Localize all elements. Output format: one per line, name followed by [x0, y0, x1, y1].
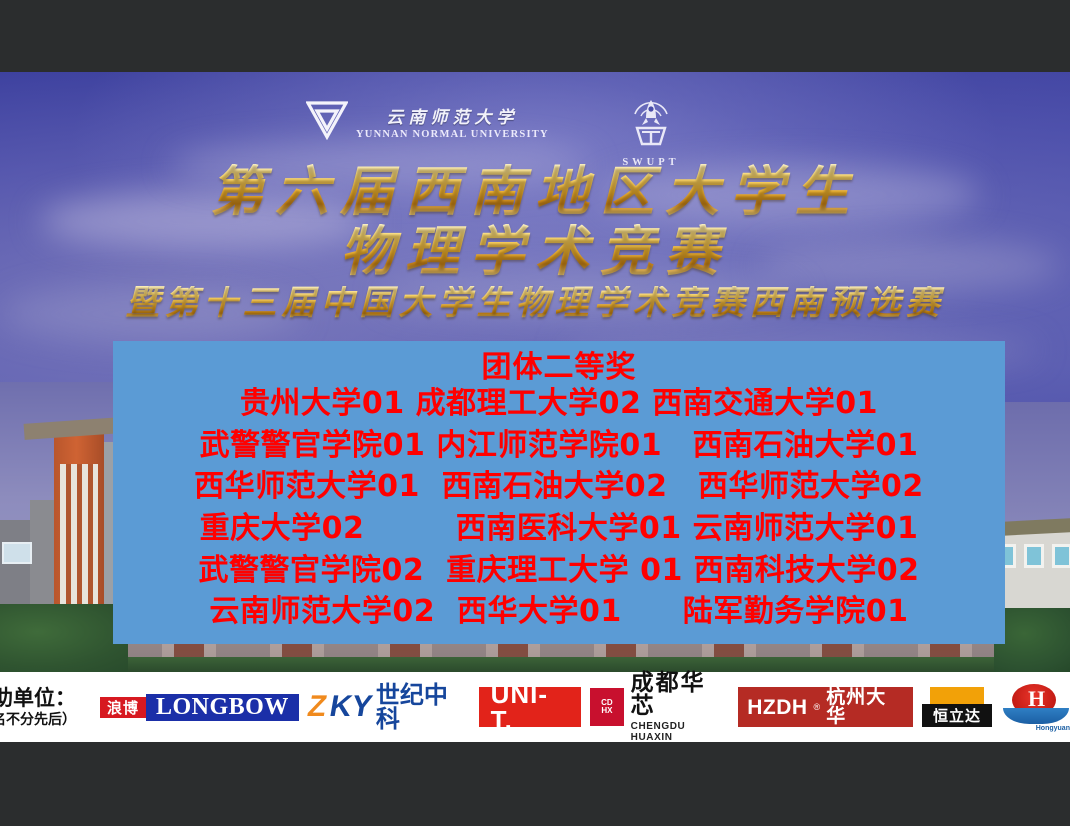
zky-ky-glyph: KY	[328, 692, 375, 722]
award-results-panel: 团体二等奖 贵州大学01 成都理工大学02 西南交通大学01 武警警官学院01 …	[113, 341, 1005, 644]
sponsor-logo-chengdu-huaxin: CDHX 成都华芯 CHENGDU HUAXIN	[590, 687, 729, 727]
sponsor-logo-list: 浪博 LONGBOW Z KY 世纪中科 UNI-T. CDHX 成都华芯 CH…	[100, 684, 1070, 730]
hengda-name-cn: 恒立达	[922, 704, 992, 727]
yunnan-normal-university-logo: 云南师范大学 YUNNAN NORMAL UNIVERSITY	[306, 100, 549, 140]
event-title-block: 第六届西南地区大学生 物理学术竞赛 暨第十三届中国大学生物理学术竞赛西南预选赛	[0, 164, 1070, 320]
event-title-line2: 物理学术竞赛	[0, 224, 1070, 278]
huaxin-name-cn: 成都华芯	[631, 672, 730, 718]
registered-trademark-icon: ®	[814, 702, 821, 712]
award-title: 团体二等奖	[113, 341, 1005, 383]
hengda-square-icon	[930, 687, 984, 704]
swupt-rocket-icon	[621, 137, 681, 154]
campus-greenery	[0, 657, 1070, 672]
award-team-line: 武警警官学院01 内江师范学院01 西南石油大学01	[113, 425, 1005, 467]
sponsor-logo-zky: Z KY 世纪中科	[308, 687, 470, 727]
campus-building-left	[0, 382, 128, 672]
hzdh-name-en: HZDH	[747, 697, 807, 718]
longbow-name-cn: 浪博	[100, 697, 146, 718]
award-team-line: 武警警官学院02 重庆理工大学 01 西南科技大学02	[113, 550, 1005, 592]
huaxin-mark-icon: CDHX	[590, 688, 624, 726]
hzdh-name-cn: 杭州大华	[826, 688, 904, 726]
sponsor-label: 助单位： 名不分先后）	[0, 686, 100, 728]
sponsor-logo-unit: UNI-T.	[479, 687, 582, 727]
zky-z-glyph: Z	[305, 692, 329, 722]
sponsor-logo-hongyuan: H Hongyuan	[1001, 684, 1070, 730]
sponsor-logo-longbow: 浪博 LONGBOW	[100, 688, 299, 726]
zky-name-cn: 世纪中科	[376, 683, 470, 731]
ynnu-name-en: YUNNAN NORMAL UNIVERSITY	[356, 130, 549, 141]
award-team-line: 重庆大学02 西南医科大学01 云南师范大学01	[113, 508, 1005, 550]
hongyuan-name-en: Hongyuan	[1036, 725, 1070, 732]
huaxin-name-en: CHENGDU HUAXIN	[631, 721, 730, 743]
event-subtitle: 暨第十三届中国大学生物理学术竞赛西南预选赛	[0, 286, 1070, 320]
ynnu-wordmark: 云南师范大学 YUNNAN NORMAL UNIVERSITY	[356, 110, 549, 141]
ynnu-triangle-icon	[306, 100, 348, 140]
presentation-slide: 云南师范大学 YUNNAN NORMAL UNIVERSITY	[0, 72, 1070, 672]
campus-building-right	[994, 402, 1070, 672]
letterbox-top	[0, 0, 1070, 72]
sponsor-logo-hengda: 恒立达	[922, 687, 992, 727]
event-title-line1: 第六届西南地区大学生	[0, 164, 1070, 218]
hongyuan-wave-icon	[1003, 708, 1069, 724]
sponsor-label-line2: 名不分先后）	[0, 712, 100, 728]
sponsor-logo-hzdh: HZDH ® 杭州大华	[738, 687, 913, 727]
longbow-name-en: LONGBOW	[146, 694, 299, 721]
swupt-rocket-logo: SWUPT	[616, 94, 686, 168]
huaxin-wordmark: 成都华芯 CHENGDU HUAXIN	[631, 672, 730, 743]
award-team-line: 贵州大学01 成都理工大学02 西南交通大学01	[113, 383, 1005, 425]
ynnu-name-cn: 云南师范大学	[386, 110, 518, 127]
header-logos: 云南师范大学 YUNNAN NORMAL UNIVERSITY	[0, 94, 1070, 164]
sponsor-bar: 助单位： 名不分先后） 浪博 LONGBOW Z KY 世纪中科 UNI-T. …	[0, 672, 1070, 742]
award-team-line: 西华师范大学01 西南石油大学02 西华师范大学02	[113, 466, 1005, 508]
sponsor-label-line1: 助单位：	[0, 686, 100, 710]
award-team-line: 云南师范大学02 西华大学01 陆军勤务学院01	[113, 591, 1005, 633]
letterbox-bottom	[0, 742, 1070, 826]
screenshot-root: 云南师范大学 YUNNAN NORMAL UNIVERSITY	[0, 0, 1070, 826]
hongyuan-h-glyph: H	[1028, 688, 1045, 710]
